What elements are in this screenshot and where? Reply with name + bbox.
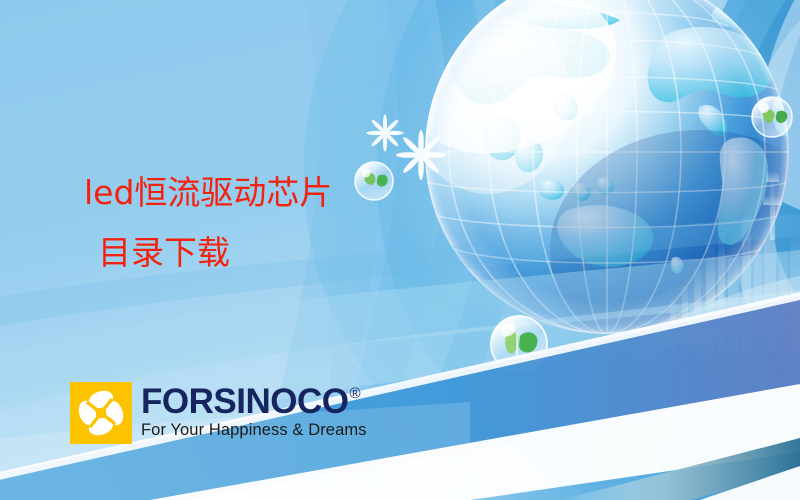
- eco-bubble-right: [752, 97, 792, 137]
- banner-canvas: led恒流驱动芯片 目录下载: [0, 0, 800, 500]
- eco-bubble-small: [355, 162, 393, 200]
- logo-wordmark: FORSINOCO ® For Your Happiness & Dreams: [141, 382, 367, 440]
- brand-name: FORSINOCO: [141, 384, 348, 420]
- brand-logo[interactable]: FORSINOCO ® For Your Happiness & Dreams: [70, 382, 367, 444]
- forsinoco-petal-mark: [70, 382, 132, 444]
- brand-name-row: FORSINOCO ®: [141, 384, 367, 420]
- petal-mark-icon: [70, 382, 132, 444]
- registered-trademark-icon: ®: [349, 386, 360, 401]
- brand-tagline: For Your Happiness & Dreams: [141, 421, 367, 440]
